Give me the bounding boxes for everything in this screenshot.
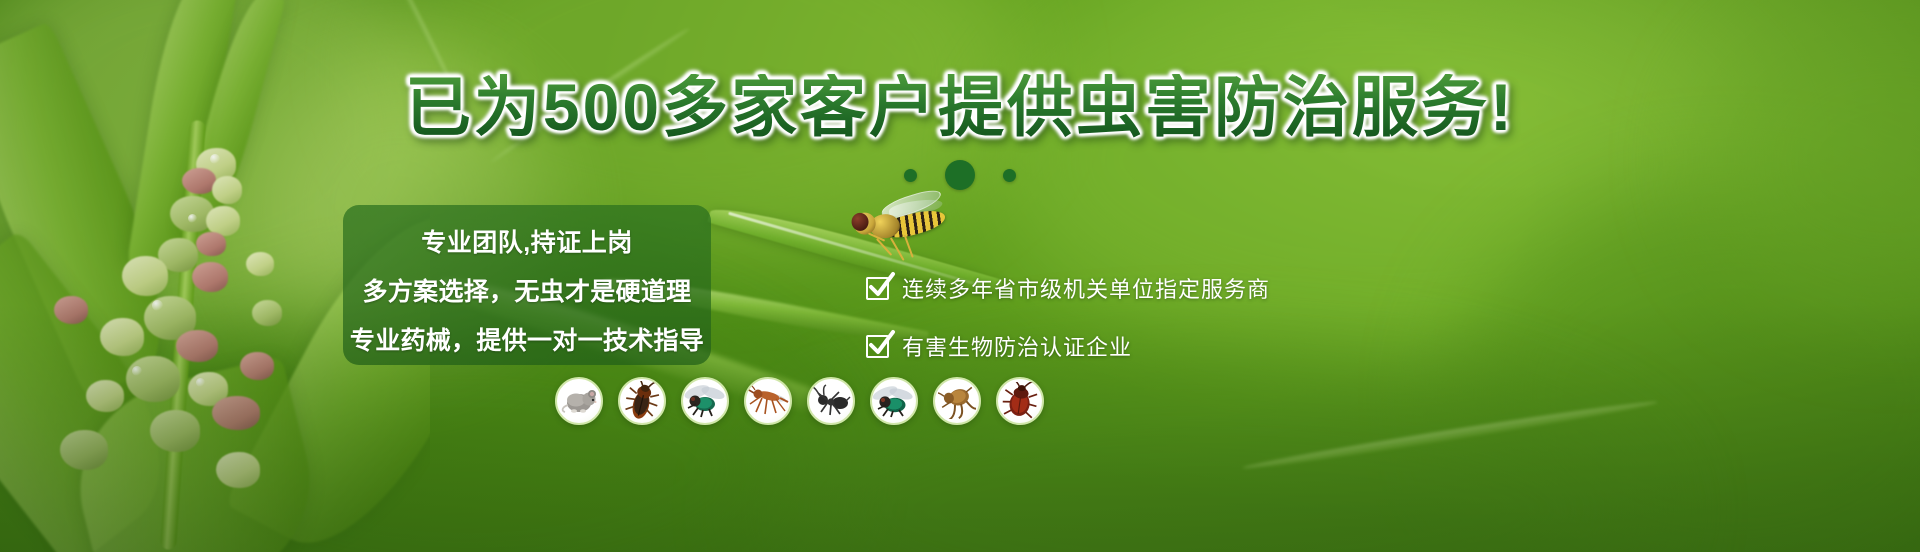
list-item: 有害生物防治认证企业 — [866, 330, 1270, 362]
fly-icon[interactable]: 蝇 — [681, 377, 729, 425]
checkbox-checked-icon — [866, 335, 889, 358]
credential-label: 有害生物防治认证企业 — [902, 330, 1132, 362]
pest-control-hero-banner: 已为500多家客户提供虫害防治服务! 专业团队,持证上岗 多方案选择，无虫才是硬… — [0, 0, 1920, 552]
cockroach-icon[interactable]: 蟑螂 — [618, 377, 666, 425]
claim-line-1: 专业团队,持证上岗 — [421, 223, 632, 259]
ant-icon[interactable]: 蚂蚁 — [807, 377, 855, 425]
greenfly-icon[interactable]: 绿蝇 — [870, 377, 918, 425]
list-item: 连续多年省市级机关单位指定服务商 — [866, 272, 1270, 304]
credentials-list: 连续多年省市级机关单位指定服务商 有害生物防治认证企业 — [866, 272, 1270, 362]
pest-type-icon-row: 鼠 蟑螂 — [555, 377, 1044, 425]
credential-label: 连续多年省市级机关单位指定服务商 — [902, 272, 1270, 304]
claim-line-3: 专业药械，提供一对一技术指导 — [350, 321, 704, 357]
decorative-dot-small-icon — [1003, 169, 1016, 182]
mosquito-icon[interactable]: 蚊 — [744, 377, 792, 425]
checkbox-checked-icon — [866, 277, 889, 300]
bedbug-icon[interactable]: 臭虫 — [996, 377, 1044, 425]
service-claims-box: 专业团队,持证上岗 多方案选择，无虫才是硬道理 专业药械，提供一对一技术指导 — [343, 205, 711, 365]
decorative-dot-small-icon — [904, 169, 917, 182]
decorative-dot-group — [0, 160, 1920, 190]
flea-icon[interactable]: 跳蚤 — [933, 377, 981, 425]
claim-line-2: 多方案选择，无虫才是硬道理 — [363, 272, 692, 308]
mouse-icon[interactable]: 鼠 — [555, 377, 603, 425]
decorative-dot-large-icon — [945, 160, 975, 190]
page-title: 已为500多家客户提供虫害防治服务! — [0, 74, 1920, 140]
